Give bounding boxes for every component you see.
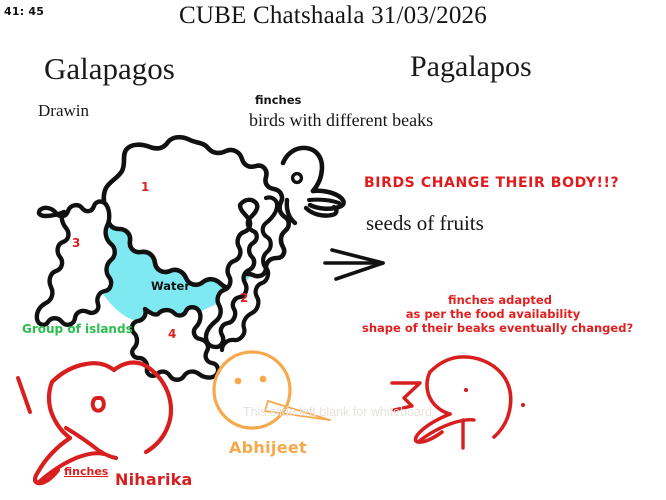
map-island-number-4: 4 xyxy=(168,327,176,341)
note-birds-change-body: BIRDS CHANGE THEIR BODY!!? xyxy=(364,175,619,191)
island-2-outline xyxy=(206,200,257,347)
orange-face-eye-left xyxy=(235,378,242,385)
map-island-number-3: 3 xyxy=(72,236,80,250)
map-label-group-of-islands: Group of islands xyxy=(22,322,133,336)
orange-face-eye-right xyxy=(260,376,267,383)
signature-abhijeet: Abhijeet xyxy=(229,438,307,457)
note-adapted-line-1: finches adapted xyxy=(362,293,620,307)
island-3-outline xyxy=(37,202,115,325)
map-island-number-2: 2 xyxy=(240,291,248,305)
page-title: CUBE Chatshaala 31/03/2026 xyxy=(0,2,666,30)
note-seeds-of-fruits: seeds of fruits xyxy=(366,211,484,236)
note-birds-with-different-beaks: birds with different beaks xyxy=(249,110,433,131)
heading-galapagos: Galapagos xyxy=(44,51,175,87)
note-adapted-line-3: shape of their beaks eventually changed? xyxy=(362,321,620,335)
note-drawin: Drawin xyxy=(38,101,89,121)
bird-eye-dot xyxy=(293,174,302,183)
island-4-outline xyxy=(132,307,218,380)
map-island-number-1: 1 xyxy=(141,180,149,194)
whiteboard-canvas[interactable]: 41: 45 CUBE Chatshaala 31/03/2026 Galapa… xyxy=(0,0,666,500)
label-finches-bottom: finches xyxy=(64,465,108,478)
signature-niharika: Niharika xyxy=(115,470,192,489)
island-1-outline xyxy=(104,137,289,287)
note-adapted-line-2: as per the food availability xyxy=(362,307,620,321)
note-finches-top: finches xyxy=(255,93,301,107)
slide-watermark: This slide left blank for whiteboard xyxy=(243,405,432,419)
note-finches-adapted-block: finches adapted as per the food availabi… xyxy=(362,293,620,335)
heading-pagalapos: Pagalapos xyxy=(410,50,532,84)
island-2-inner-edge xyxy=(222,197,277,350)
map-label-water: Water xyxy=(151,279,190,293)
